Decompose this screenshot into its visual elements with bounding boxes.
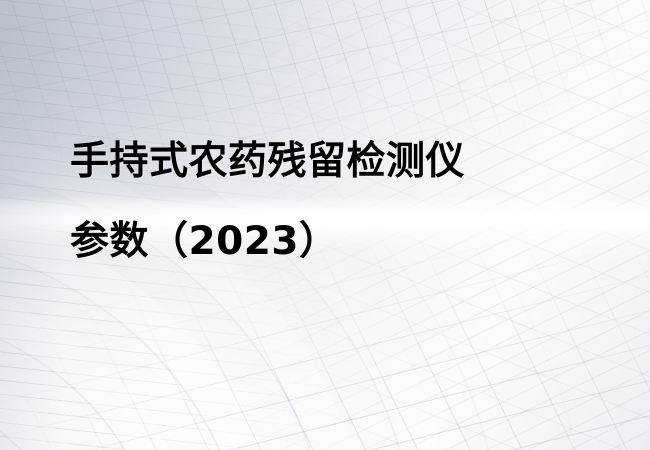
title-line-2: 参数（2023）	[70, 202, 610, 282]
page-title: 手持式农药残留检测仪 参数（2023）	[70, 122, 610, 282]
title-banner: 手持式农药残留检测仪 参数（2023）	[0, 0, 650, 450]
title-line-1: 手持式农药残留检测仪	[70, 122, 610, 202]
